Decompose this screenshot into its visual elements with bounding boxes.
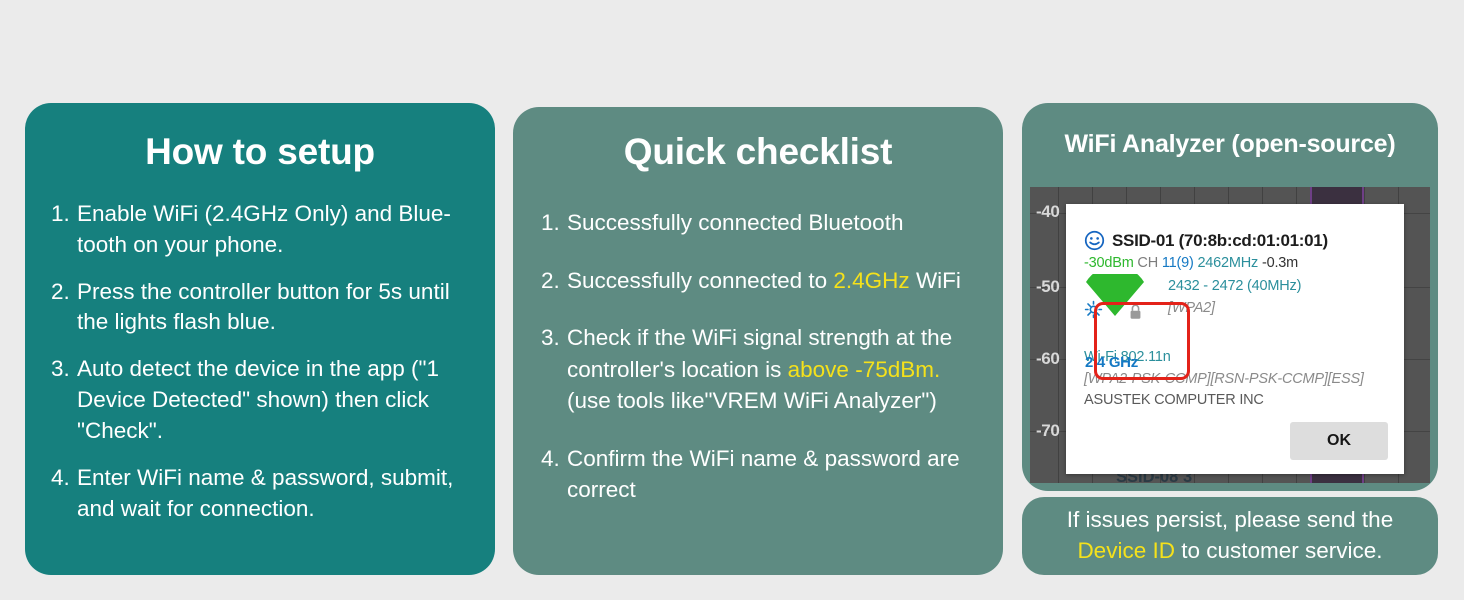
step-text-post: WiFi	[910, 268, 961, 293]
step-number: 2.	[51, 277, 77, 339]
capabilities: [WPA2-PSK-CCMP][RSN-PSK-CCMP][ESS]	[1084, 370, 1404, 389]
list-item: 2. Press the controller button for 5s un…	[51, 277, 473, 339]
panel-quick-checklist: Quick checklist 1. Successfully connecte…	[513, 107, 1003, 575]
smiley-face-icon	[1084, 230, 1105, 251]
step-text: Auto detect the device in the app ("1 De…	[77, 354, 473, 446]
security-short: [WPA2]	[1168, 299, 1404, 318]
step-text-highlight: 2.4GHz	[833, 268, 909, 293]
panel-wifi-analyzer: WiFi Analyzer (open-source) -40 -50 -60	[1022, 103, 1438, 491]
setup-step-list: 1. Enable WiFi (2.4GHz Only) and Blue-to…	[51, 199, 473, 524]
step-number: 3.	[541, 322, 567, 417]
step-text-pre: Successfully connected Bluetooth	[567, 210, 903, 235]
note-highlight: Device ID	[1077, 538, 1175, 563]
vendor-name: ASUSTEK COMPUTER INC	[1084, 391, 1404, 410]
step-number: 4.	[51, 463, 77, 525]
setup-title: How to setup	[25, 131, 495, 173]
y-axis-tick: -70	[1036, 421, 1059, 441]
step-number: 3.	[51, 354, 77, 446]
step-number: 4.	[541, 443, 567, 506]
access-point-detail-dialog: SSID-01 (70:8b:cd:01:01:01) -30dBm CH 11…	[1066, 204, 1404, 474]
checklist-title: Quick checklist	[513, 131, 1003, 173]
step-text: Enable WiFi (2.4GHz Only) and Blue-tooth…	[77, 199, 473, 261]
support-note-text: If issues persist, please send the Devic…	[1022, 505, 1438, 566]
signal-summary-line: -30dBm CH 11(9) 2462MHz -0.3m	[1084, 254, 1404, 273]
distance-value: -0.3m	[1262, 255, 1298, 271]
step-text-pre: Confirm the WiFi name & password are cor…	[567, 446, 960, 503]
y-axis-tick: -60	[1036, 349, 1059, 369]
step-text-post: (use tools like"VREM WiFi Analyzer")	[567, 388, 937, 413]
dialog-body: -30dBm CH 11(9) 2462MHz -0.3m	[1084, 254, 1404, 318]
page-root: How to setup 1. Enable WiFi (2.4GHz Only…	[0, 0, 1464, 600]
step-text-highlight: above -75dBm.	[788, 357, 941, 382]
note-post: to customer service.	[1175, 538, 1383, 563]
detail-right-column: 2432 - 2472 (40MHz) [WPA2]	[1168, 277, 1404, 318]
dialog-header: SSID-01 (70:8b:cd:01:01:01)	[1084, 230, 1404, 251]
step-number: 1.	[541, 207, 567, 239]
step-text: Enter WiFi name & password, submit, and …	[77, 463, 473, 525]
channel-label: CH	[1137, 255, 1158, 271]
list-item: 3. Auto detect the device in the app ("1…	[51, 354, 473, 446]
frequency-range: 2432 - 2472 (40MHz)	[1168, 277, 1404, 296]
list-item: 4. Confirm the WiFi name & password are …	[541, 443, 985, 506]
step-text: Confirm the WiFi name & password are cor…	[567, 443, 985, 506]
list-item: 1. Successfully connected Bluetooth	[541, 207, 985, 239]
analyzer-screenshot: -40 -50 -60 -70 SSID-08 3 SSID-01 (70:8b…	[1030, 187, 1430, 483]
channel-number: 11(9)	[1162, 255, 1194, 271]
lock-icon	[1128, 304, 1143, 320]
note-pre: If issues persist, please send the	[1067, 507, 1393, 532]
checklist-step-list: 1. Successfully connected Bluetooth 2. S…	[541, 207, 985, 506]
step-text: Successfully connected Bluetooth	[567, 207, 985, 239]
band-label: 2.4 GHz	[1085, 354, 1138, 371]
panel-support-note: If issues persist, please send the Devic…	[1022, 497, 1438, 575]
panel-how-to-setup: How to setup 1. Enable WiFi (2.4GHz Only…	[25, 103, 495, 575]
step-text: Press the controller button for 5s until…	[77, 277, 473, 339]
y-axis-tick: -50	[1036, 277, 1059, 297]
list-item: 2. Successfully connected to 2.4GHz WiFi	[541, 265, 985, 297]
list-item: 3. Check if the WiFi signal strength at …	[541, 322, 985, 417]
step-number: 2.	[541, 265, 567, 297]
y-axis-tick: -40	[1036, 202, 1059, 222]
list-item: 1. Enable WiFi (2.4GHz Only) and Blue-to…	[51, 199, 473, 261]
ok-button[interactable]: OK	[1290, 422, 1388, 460]
signal-level: -30dBm	[1084, 255, 1134, 271]
list-item: 4. Enter WiFi name & password, submit, a…	[51, 463, 473, 525]
step-text: Check if the WiFi signal strength at the…	[567, 322, 985, 417]
dialog-title: SSID-01 (70:8b:cd:01:01:01)	[1112, 231, 1328, 251]
analyzer-title: WiFi Analyzer (open-source)	[1022, 130, 1438, 159]
step-number: 1.	[51, 199, 77, 261]
wps-icon	[1084, 300, 1103, 319]
signal-icon-group: 2.4 GHz	[1084, 274, 1160, 336]
step-text: Successfully connected to 2.4GHz WiFi	[567, 265, 985, 297]
frequency-value: 2462MHz	[1197, 255, 1258, 271]
step-text-pre: Successfully connected to	[567, 268, 833, 293]
